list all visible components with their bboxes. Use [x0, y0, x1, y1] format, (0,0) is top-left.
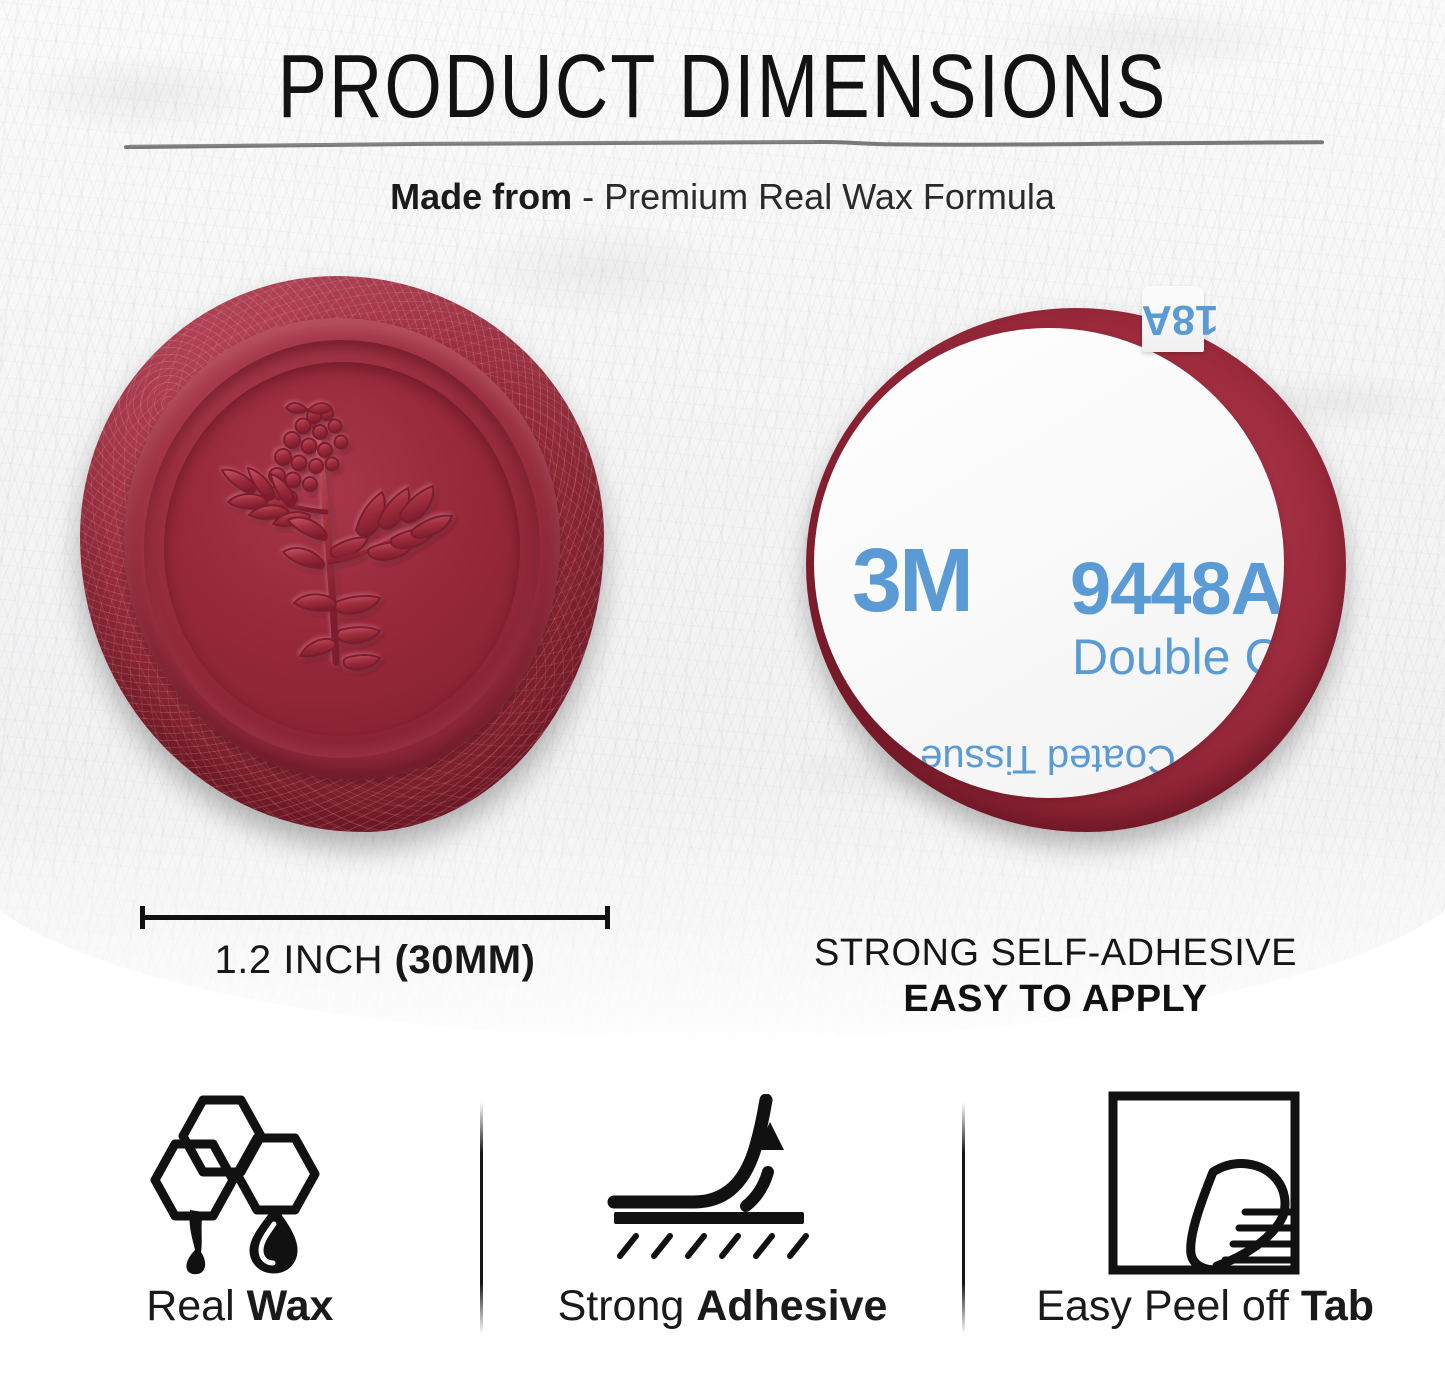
adhesive-caption-line1: STRONG SELF-ADHESIVE [0, 932, 1445, 975]
adhesive-caption-line2: EASY TO APPLY [0, 978, 1445, 1021]
peeling-layer-arrow-icon [598, 1088, 848, 1278]
adhesive-backing-image: 18A 3M 9448A Double C Coated Tissue [790, 286, 1360, 856]
subtitle-bold: Made from [390, 176, 572, 217]
wax-seal-image [68, 262, 628, 882]
feature-label-real-wax: Real Wax [146, 1282, 333, 1331]
feature-label-strong-adhesive: Strong Adhesive [558, 1282, 888, 1331]
feature-easy-peel-tab: Easy Peel off Tab [965, 1088, 1445, 1331]
feature-row: Real Wax Strong Adhesive [0, 1088, 1445, 1378]
wax-face [164, 362, 520, 736]
feature-strong-adhesive: Strong Adhesive [483, 1088, 963, 1331]
dimension-line [140, 906, 610, 928]
square-peel-corner-icon [1105, 1088, 1305, 1278]
page-title: PRODUCT DIMENSIONS [0, 34, 1445, 138]
subtitle-rest: - Premium Real Wax Formula [572, 176, 1055, 217]
adhesive-disc: 3M 9448A Double C Coated Tissue [814, 328, 1284, 798]
feature-real-wax: Real Wax [0, 1088, 480, 1331]
dimension-rule [140, 915, 610, 920]
feature-label-easy-peel-tab: Easy Peel off Tab [1036, 1282, 1374, 1331]
subtitle: Made from - Premium Real Wax Formula [0, 176, 1445, 218]
product-description: Double C [1072, 628, 1280, 686]
sketch-underline-icon [124, 140, 1324, 149]
adhesive-bottom-text: Coated Tissue [858, 736, 1238, 781]
botanical-motif-icon [164, 362, 520, 736]
honeycomb-wax-drop-icon [145, 1088, 335, 1278]
adhesive-tab-text: 18A [1140, 296, 1220, 344]
dimension-cap-right [605, 906, 610, 929]
product-code: 9448A [1070, 546, 1283, 631]
